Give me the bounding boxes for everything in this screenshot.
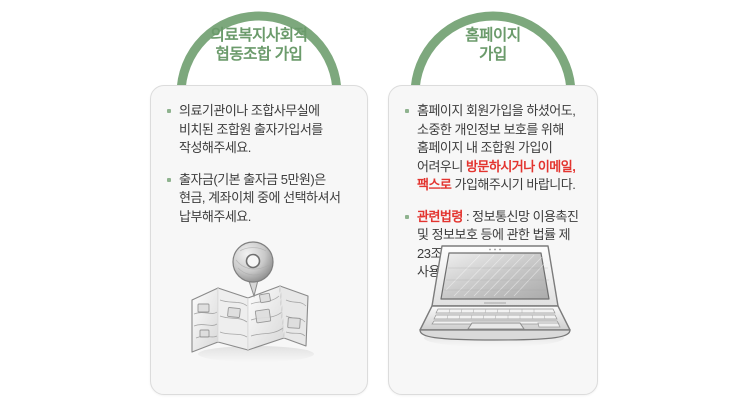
panel-title-right-line1: 홈페이지 [408,26,578,45]
bullet-dot-icon [167,178,171,182]
bullet-dot-icon [405,109,409,113]
bullet-dot-icon [167,109,171,113]
panel-title-left-line1: 의료복지사회적 [174,26,344,45]
panel-medical-welfare-coop: 의료복지사회적 협동조합 가입 의료기관이나 조합사무실에 비치된 조합원 출자… [150,0,368,410]
bullet-dot-icon [405,215,409,219]
list-item: 출자금(기본 출자금 5만원)은 현금, 계좌이체 중에 선택하셔서 납부해주세… [167,171,353,227]
panel-homepage-signup: 홈페이지 가입 홈페이지 회원가입을 하셨어도, 소중한 개인정보 보호를 위해… [388,0,598,410]
list-item-text-tail: 가입해주시기 바랍니다. [451,177,575,192]
list-item-text: 의료기관이나 조합사무실에 비치된 조합원 출자가입서를 작성해주세요. [179,103,323,155]
folded-map-with-pin-icon [151,238,367,388]
panel-title-left: 의료복지사회적 협동조합 가입 [174,26,344,64]
panel-title-right-line2: 가입 [408,45,578,64]
panel-title-right: 홈페이지 가입 [408,26,578,64]
list-item-law-label: 관련법령 [417,209,463,224]
bullet-list-left: 의료기관이나 조합사무실에 비치된 조합원 출자가입서를 작성해주세요. 출자금… [151,102,367,226]
list-item-text: 출자금(기본 출자금 5만원)은 현금, 계좌이체 중에 선택하셔서 납부해주세… [179,172,340,224]
panel-title-left-line2: 협동조합 가입 [174,45,344,64]
page-root: 의료복지사회적 협동조합 가입 의료기관이나 조합사무실에 비치된 조합원 출자… [0,0,750,410]
laptop-sketch-icon [389,238,597,388]
card-left: 의료기관이나 조합사무실에 비치된 조합원 출자가입서를 작성해주세요. 출자금… [150,85,368,395]
list-item: 홈페이지 회원가입을 하셨어도, 소중한 개인정보 보호를 위해 홈페이지 내 … [405,102,583,195]
card-right: 홈페이지 회원가입을 하셨어도, 소중한 개인정보 보호를 위해 홈페이지 내 … [388,85,598,395]
list-item: 의료기관이나 조합사무실에 비치된 조합원 출자가입서를 작성해주세요. [167,102,353,158]
